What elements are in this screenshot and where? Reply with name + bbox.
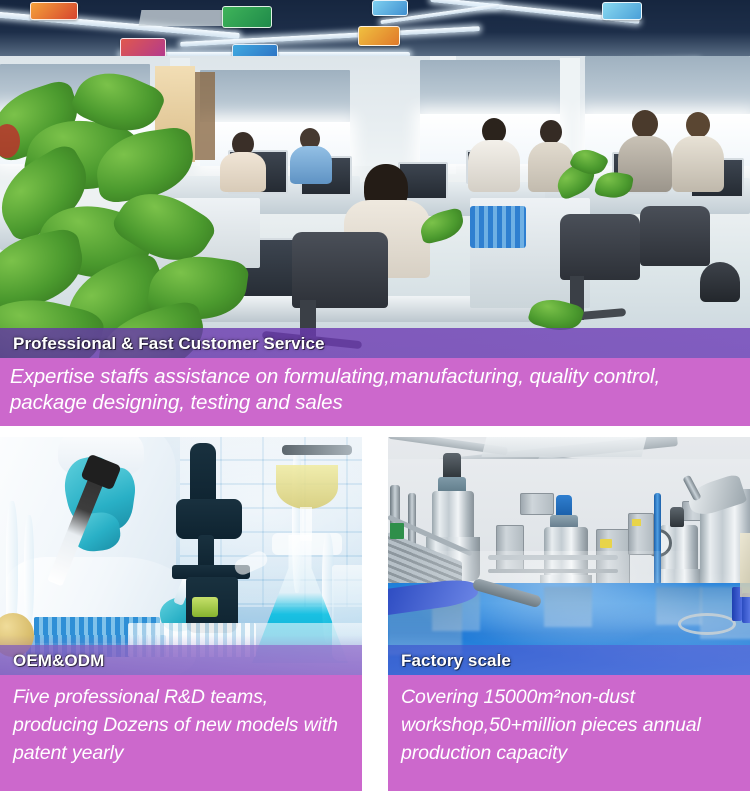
factory-photo: Factory scale [388,437,750,675]
oem-odm-title-bar: OEM&ODM [0,645,362,675]
storage-crate [470,206,526,248]
mixer-motor [670,507,684,527]
office-chair [640,206,710,266]
window-blind [585,56,750,114]
card-factory-scale: Factory scale Covering 15000m²non-dust w… [388,437,750,791]
staff-figure [672,136,724,192]
staff-figure [468,140,520,192]
stand-clamp [282,445,352,455]
customer-service-body: Expertise staffs assistance on formulati… [0,358,750,426]
staff-figure [632,110,658,138]
customer-service-title: Professional & Fast Customer Service [13,335,325,352]
factory-scale-title-bar: Factory scale [388,645,750,675]
safety-sign [390,523,404,539]
wall-control-panel [520,493,554,515]
customer-service-description: Expertise staffs assistance on formulati… [10,364,742,416]
test-tube [6,501,18,631]
office-chair [292,232,388,308]
window-blind [420,60,560,114]
funnel-liquid [276,465,338,509]
staff-figure [220,152,266,192]
metal-ring [678,613,736,635]
sample-chip [192,597,218,617]
factory-scale-body: Covering 15000m²non-dust workshop,50+mil… [388,675,750,791]
hanging-sign [222,6,272,28]
hanging-sign [30,2,78,20]
waste-bin [700,262,740,302]
customer-service-title-bar: Professional & Fast Customer Service [0,328,750,358]
card-oem-odm: OEM&ODM Five professional R&D teams, pro… [0,437,362,791]
staff-figure [290,146,332,184]
factory-scale-title: Factory scale [401,652,511,669]
card-customer-service: Professional & Fast Customer Service Exp… [0,0,750,426]
office-chair [560,214,640,280]
factory-scale-description: Covering 15000m²non-dust workshop,50+mil… [401,683,742,767]
laboratory-photo: OEM&ODM [0,437,362,675]
warning-label [600,539,612,548]
company-capability-banner: Professional & Fast Customer Service Exp… [0,0,750,791]
ceiling-tile [139,10,232,26]
ceiling-panel [482,437,647,457]
microscope-head [176,499,242,539]
office-photo: Professional & Fast Customer Service [0,0,750,358]
oem-odm-description: Five professional R&D teams, producing D… [13,683,354,767]
warning-label [632,519,641,526]
staff-figure [540,120,562,144]
test-tube [24,515,34,627]
workshop-door [740,533,750,597]
mixer-motor [556,495,572,517]
hanging-sign [120,38,166,58]
hanging-sign [372,0,408,16]
mixer-motor [443,453,461,479]
window-blind [200,70,350,122]
blue-barrel [742,593,750,623]
floor-reflection [544,587,592,627]
hanging-sign [602,2,642,20]
door-frame [195,72,215,160]
oem-odm-body: Five professional R&D teams, producing D… [0,675,362,791]
hanging-sign [358,26,400,46]
oem-odm-title: OEM&ODM [13,652,104,669]
staff-figure [686,112,710,138]
